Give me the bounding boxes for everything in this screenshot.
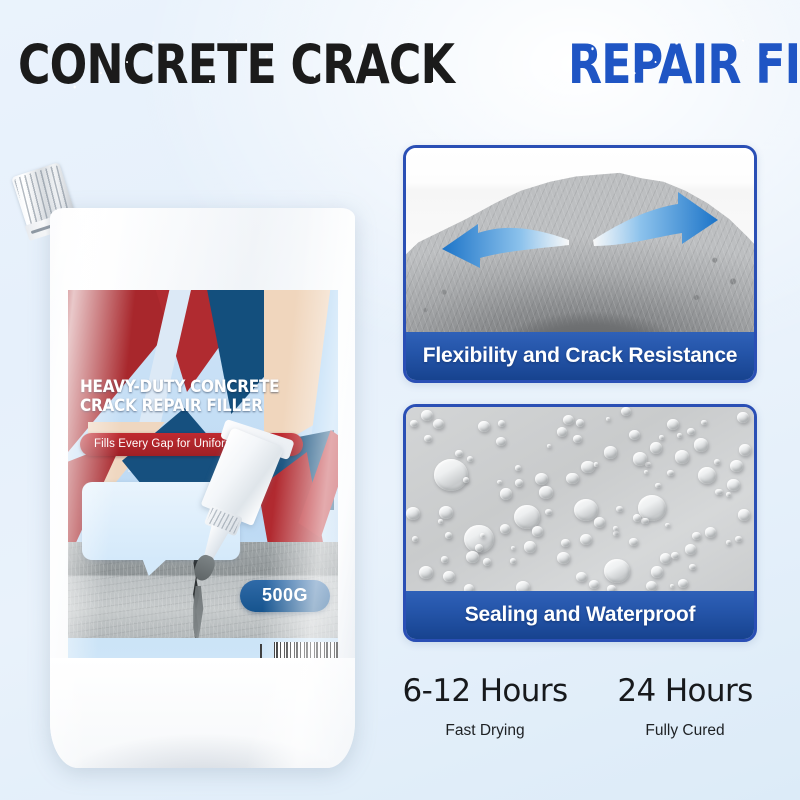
water-droplet [410,420,418,428]
water-droplet [665,523,669,527]
water-droplet [500,524,511,534]
water-droplet [539,486,552,498]
water-droplet [557,427,568,437]
weight-badge-text: 500G [262,585,308,605]
water-droplet [606,417,610,421]
arrow-right-icon [593,192,718,246]
water-droplet [581,461,594,473]
water-droplet [510,558,516,564]
water-droplet [705,527,716,537]
product-label-artwork: HEAVY-DUTY CONCRETE CRACK REPAIR FILLER … [68,290,338,668]
pouch-bottom-gusset [50,658,355,768]
water-droplet [419,566,433,579]
water-droplet [715,489,722,496]
water-droplet [613,526,618,531]
water-droplet [500,488,512,499]
water-droplet [497,480,502,484]
water-droplet [604,446,617,458]
water-droplet [557,552,570,564]
water-droplet [475,544,483,552]
water-droplet [434,459,468,491]
water-droplet [738,509,750,521]
water-droplet [621,407,631,416]
water-droplet [737,412,749,424]
water-droplet [545,509,552,515]
water-droplet [687,428,695,435]
water-droplet [438,519,443,524]
water-droplet [524,541,536,552]
water-droplet [511,546,515,550]
water-droplet [515,479,523,487]
weight-badge: 500G [240,580,330,612]
water-droplet [483,558,491,565]
water-droplet [580,534,592,545]
feature-caption-waterproof-text: Sealing and Waterproof [465,603,696,627]
water-droplet [563,415,574,425]
water-droplet [671,552,679,559]
stat-fully-cured: 24 Hours Fully Cured [585,672,785,762]
water-droplet [480,533,485,537]
water-droplet [678,579,688,588]
water-droplet [633,514,641,522]
water-droplet [685,544,696,554]
feature-caption-flexibility: Flexibility and Crack Resistance [406,332,754,380]
feature-photo-water-droplets [406,407,754,597]
water-droplet [406,507,420,520]
water-droplet [478,421,490,432]
water-droplet [667,419,679,430]
water-droplet [613,531,618,536]
water-droplet [441,556,448,562]
water-droplet [701,420,707,425]
water-droplet [439,506,454,520]
water-droplet [424,435,432,443]
water-droplet [515,465,522,471]
water-droplet [651,566,663,578]
water-droplet [421,410,433,421]
label-headline: HEAVY-DUTY CONCRETE CRACK REPAIR FILLER [80,378,307,416]
flexibility-arrows [406,148,754,338]
stats-row: 6-12 Hours Fast Drying 24 Hours Fully Cu… [385,672,785,762]
water-droplet [433,419,444,429]
water-droplet [675,450,690,464]
water-droplet [535,473,548,485]
water-droplet [633,452,648,466]
water-droplet [645,462,651,467]
feature-caption-flexibility-text: Flexibility and Crack Resistance [423,344,738,368]
water-droplet [445,532,452,539]
water-droplet [660,553,671,563]
water-droplet [561,539,570,547]
water-droplet [641,518,649,525]
water-droplet [644,470,648,474]
page-title: CONCRETE CRACKREPAIR FILLER [18,36,788,98]
water-droplet [594,517,606,528]
water-droplet [659,435,664,440]
water-droplet [677,433,682,438]
water-droplet [638,495,666,521]
stat-fast-drying: 6-12 Hours Fast Drying [385,672,585,762]
water-droplet [727,479,740,491]
stat-fast-drying-value: 6-12 Hours [385,672,585,710]
stat-fast-drying-label: Fast Drying [385,722,585,740]
pouch-body: HEAVY-DUTY CONCRETE CRACK REPAIR FILLER … [50,208,355,768]
page-title-part-dark: CONCRETE CRACK [18,36,454,94]
water-droplet [496,437,506,446]
water-droplet [739,444,751,456]
water-droplet [532,526,543,536]
feature-photo-cracked-concrete [406,148,754,338]
label-headline-block: HEAVY-DUTY CONCRETE CRACK REPAIR FILLER [80,378,332,416]
water-droplet [566,473,579,485]
water-droplet [735,536,742,542]
stat-fully-cured-label: Fully Cured [585,722,785,740]
water-droplet [463,477,469,483]
water-droplet [629,538,638,547]
water-droplet [698,467,716,484]
feature-panel-flexibility[interactable]: Flexibility and Crack Resistance [403,145,757,383]
water-droplet [412,536,418,542]
water-droplet [547,444,551,448]
page-title-part-blue: REPAIR FILLER [568,36,800,94]
water-droplet [467,456,473,462]
water-droplet [650,442,662,454]
water-droplet [714,459,720,465]
arrow-left-icon [442,224,569,268]
water-droplet [670,584,675,588]
water-droplet [726,492,732,497]
water-droplet [594,462,598,466]
feature-panel-waterproof[interactable]: Sealing and Waterproof [403,404,757,642]
water-droplet [655,483,661,488]
water-droplet [694,438,709,452]
stat-fully-cured-value: 24 Hours [585,672,785,710]
water-droplet [667,470,673,476]
water-droplet [616,506,623,513]
water-droplet [455,450,463,457]
water-droplet [629,430,640,440]
water-droplet [589,580,599,589]
product-pouch: HEAVY-DUTY CONCRETE CRACK REPAIR FILLER … [8,150,388,770]
water-droplet [692,532,701,540]
water-droplet [443,571,455,582]
water-droplet [646,581,657,591]
water-droplet [689,564,695,570]
water-droplet [576,572,587,582]
water-droplet [576,419,585,427]
water-droplet [498,420,506,427]
water-droplet [730,460,743,472]
water-droplet [604,559,630,583]
water-droplet [726,540,731,545]
feature-caption-waterproof: Sealing and Waterproof [406,591,754,639]
water-droplet [466,551,479,563]
water-droplet [573,435,582,443]
